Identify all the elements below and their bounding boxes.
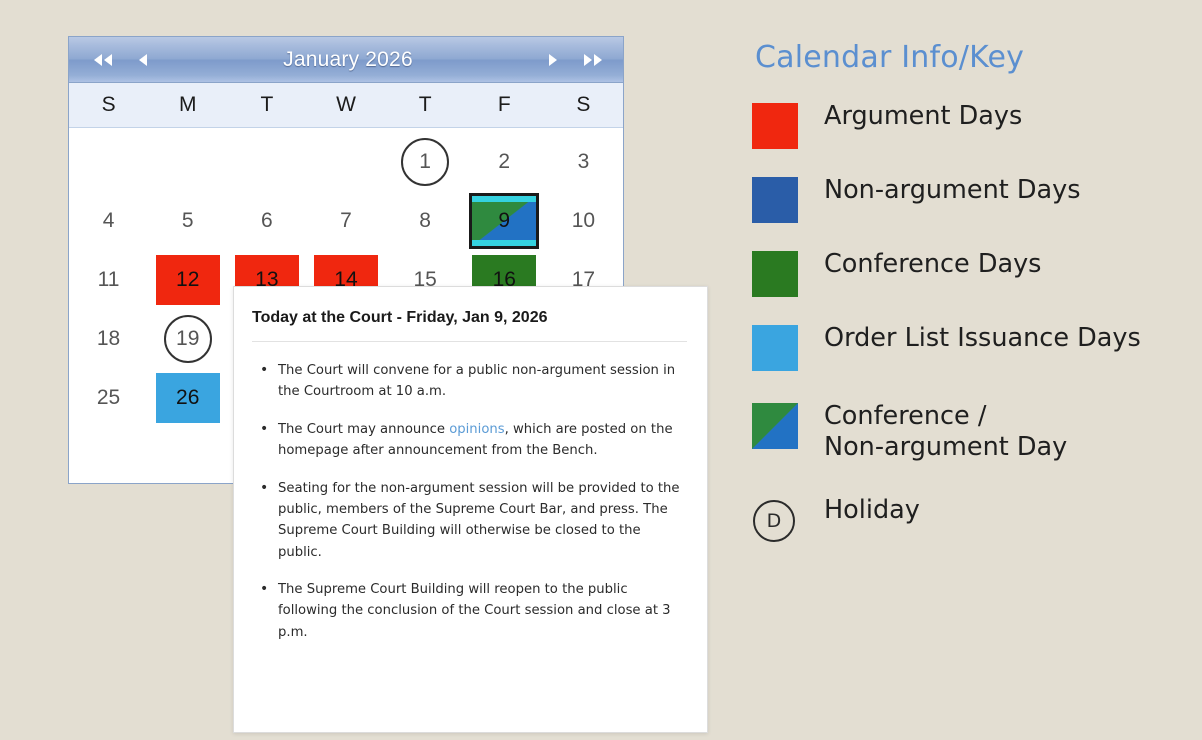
day-cell-empty — [69, 132, 148, 191]
day-box-25[interactable]: 25 — [77, 373, 141, 423]
legend-row-0: Argument Days — [752, 101, 1192, 149]
weekday-header-0: S — [69, 83, 148, 127]
day-box-10[interactable]: 10 — [551, 196, 615, 246]
day-cell-26[interactable]: 26 — [148, 368, 227, 427]
day-number: 19 — [176, 327, 199, 351]
popup-bullet-0: The Court will convene for a public non-… — [278, 360, 681, 403]
popup-title: Today at the Court - Friday, Jan 9, 2026 — [234, 287, 707, 341]
day-cell-10[interactable]: 10 — [544, 191, 623, 250]
day-box-12[interactable]: 12 — [156, 255, 220, 305]
opinions-link[interactable]: opinions — [449, 422, 504, 437]
legend-label-5: Holiday — [824, 495, 920, 526]
day-number: 26 — [176, 386, 199, 410]
popup-bullet-list: The Court will convene for a public non-… — [234, 342, 707, 643]
day-cell-9[interactable]: 9 — [465, 191, 544, 250]
weekday-header-6: S — [544, 83, 623, 127]
day-number: 4 — [103, 209, 115, 233]
prev-year-button[interactable] — [83, 53, 123, 67]
day-number: 5 — [182, 209, 194, 233]
day-box-11[interactable]: 11 — [77, 255, 141, 305]
legend-items: Argument DaysNon-argument DaysConference… — [752, 101, 1192, 543]
legend-label-3: Order List Issuance Days — [824, 323, 1141, 354]
day-box-19[interactable]: 19 — [156, 314, 220, 364]
legend-label-1: Non-argument Days — [824, 175, 1080, 206]
day-number: 2 — [498, 150, 510, 174]
legend-swatch-icon-5: D — [752, 497, 798, 543]
popup-bullet-2: Seating for the non-argument session wil… — [278, 478, 681, 564]
legend-swatch-icon-1 — [752, 177, 798, 223]
legend-swatch-icon-0 — [752, 103, 798, 149]
weekday-header-3: W — [306, 83, 385, 127]
legend-row-2: Conference Days — [752, 249, 1192, 297]
day-box-26[interactable]: 26 — [156, 373, 220, 423]
holiday-d-icon: D — [753, 500, 795, 542]
day-cell-5[interactable]: 5 — [148, 191, 227, 250]
day-cell-2[interactable]: 2 — [465, 132, 544, 191]
day-cell-3[interactable]: 3 — [544, 132, 623, 191]
calendar-title: January 2026 — [163, 48, 533, 72]
day-number: 10 — [572, 209, 595, 233]
day-box-9[interactable]: 9 — [472, 196, 536, 246]
legend-swatch-icon-3 — [752, 325, 798, 371]
weekday-header-5: F — [465, 83, 544, 127]
day-number: 6 — [261, 209, 273, 233]
day-cell-4[interactable]: 4 — [69, 191, 148, 250]
day-number: 25 — [97, 386, 120, 410]
day-number: 3 — [578, 150, 590, 174]
day-box-2[interactable]: 2 — [472, 137, 536, 187]
calendar-header: January 2026 — [69, 37, 623, 83]
legend-heading: Calendar Info/Key — [755, 40, 1192, 75]
day-cell-empty — [148, 132, 227, 191]
day-cell-12[interactable]: 12 — [148, 250, 227, 309]
day-box-18[interactable]: 18 — [77, 314, 141, 364]
weekday-header-4: T — [386, 83, 465, 127]
day-cell-7[interactable]: 7 — [306, 191, 385, 250]
legend-label-0: Argument Days — [824, 101, 1022, 132]
day-box-1[interactable]: 1 — [393, 137, 457, 187]
day-number: 8 — [419, 209, 431, 233]
weekday-header-1: M — [148, 83, 227, 127]
legend-row-5: DHoliday — [752, 495, 1192, 543]
day-box-7[interactable]: 7 — [314, 196, 378, 246]
weekday-header-2: T — [227, 83, 306, 127]
day-box-3[interactable]: 3 — [551, 137, 615, 187]
day-number: 7 — [340, 209, 352, 233]
day-cell-19[interactable]: 19 — [148, 309, 227, 368]
weekday-header-row: SMTWTFS — [69, 83, 623, 128]
legend-swatch-icon-4 — [752, 403, 798, 449]
legend-swatch-icon-2 — [752, 251, 798, 297]
day-box-5[interactable]: 5 — [156, 196, 220, 246]
legend-row-3: Order List Issuance Days — [752, 323, 1192, 371]
day-box-4[interactable]: 4 — [77, 196, 141, 246]
today-at-the-court-popup: Today at the Court - Friday, Jan 9, 2026… — [233, 286, 708, 733]
day-number: 12 — [176, 268, 199, 292]
day-box-6[interactable]: 6 — [235, 196, 299, 246]
legend-row-4: Conference / Non-argument Day — [752, 401, 1192, 463]
day-number: 18 — [97, 327, 120, 351]
popup-bullet-3: The Supreme Court Building will reopen t… — [278, 579, 681, 643]
day-cell-8[interactable]: 8 — [386, 191, 465, 250]
popup-bullet-1: The Court may announce opinions, which a… — [278, 419, 681, 462]
day-cell-25[interactable]: 25 — [69, 368, 148, 427]
calendar-legend-panel: Calendar Info/Key Argument DaysNon-argum… — [752, 36, 1192, 543]
day-number: 11 — [98, 268, 120, 292]
next-year-button[interactable] — [573, 53, 613, 67]
day-cell-empty — [227, 132, 306, 191]
day-cell-18[interactable]: 18 — [69, 309, 148, 368]
prev-month-button[interactable] — [123, 53, 163, 67]
day-number: 1 — [419, 150, 431, 174]
day-cell-6[interactable]: 6 — [227, 191, 306, 250]
day-box-8[interactable]: 8 — [393, 196, 457, 246]
day-cell-empty — [306, 132, 385, 191]
day-number: 9 — [498, 209, 510, 233]
next-month-button[interactable] — [533, 53, 573, 67]
day-cell-11[interactable]: 11 — [69, 250, 148, 309]
day-cell-1[interactable]: 1 — [386, 132, 465, 191]
legend-label-4: Conference / Non-argument Day — [824, 401, 1067, 463]
legend-label-2: Conference Days — [824, 249, 1041, 280]
legend-row-1: Non-argument Days — [752, 175, 1192, 223]
